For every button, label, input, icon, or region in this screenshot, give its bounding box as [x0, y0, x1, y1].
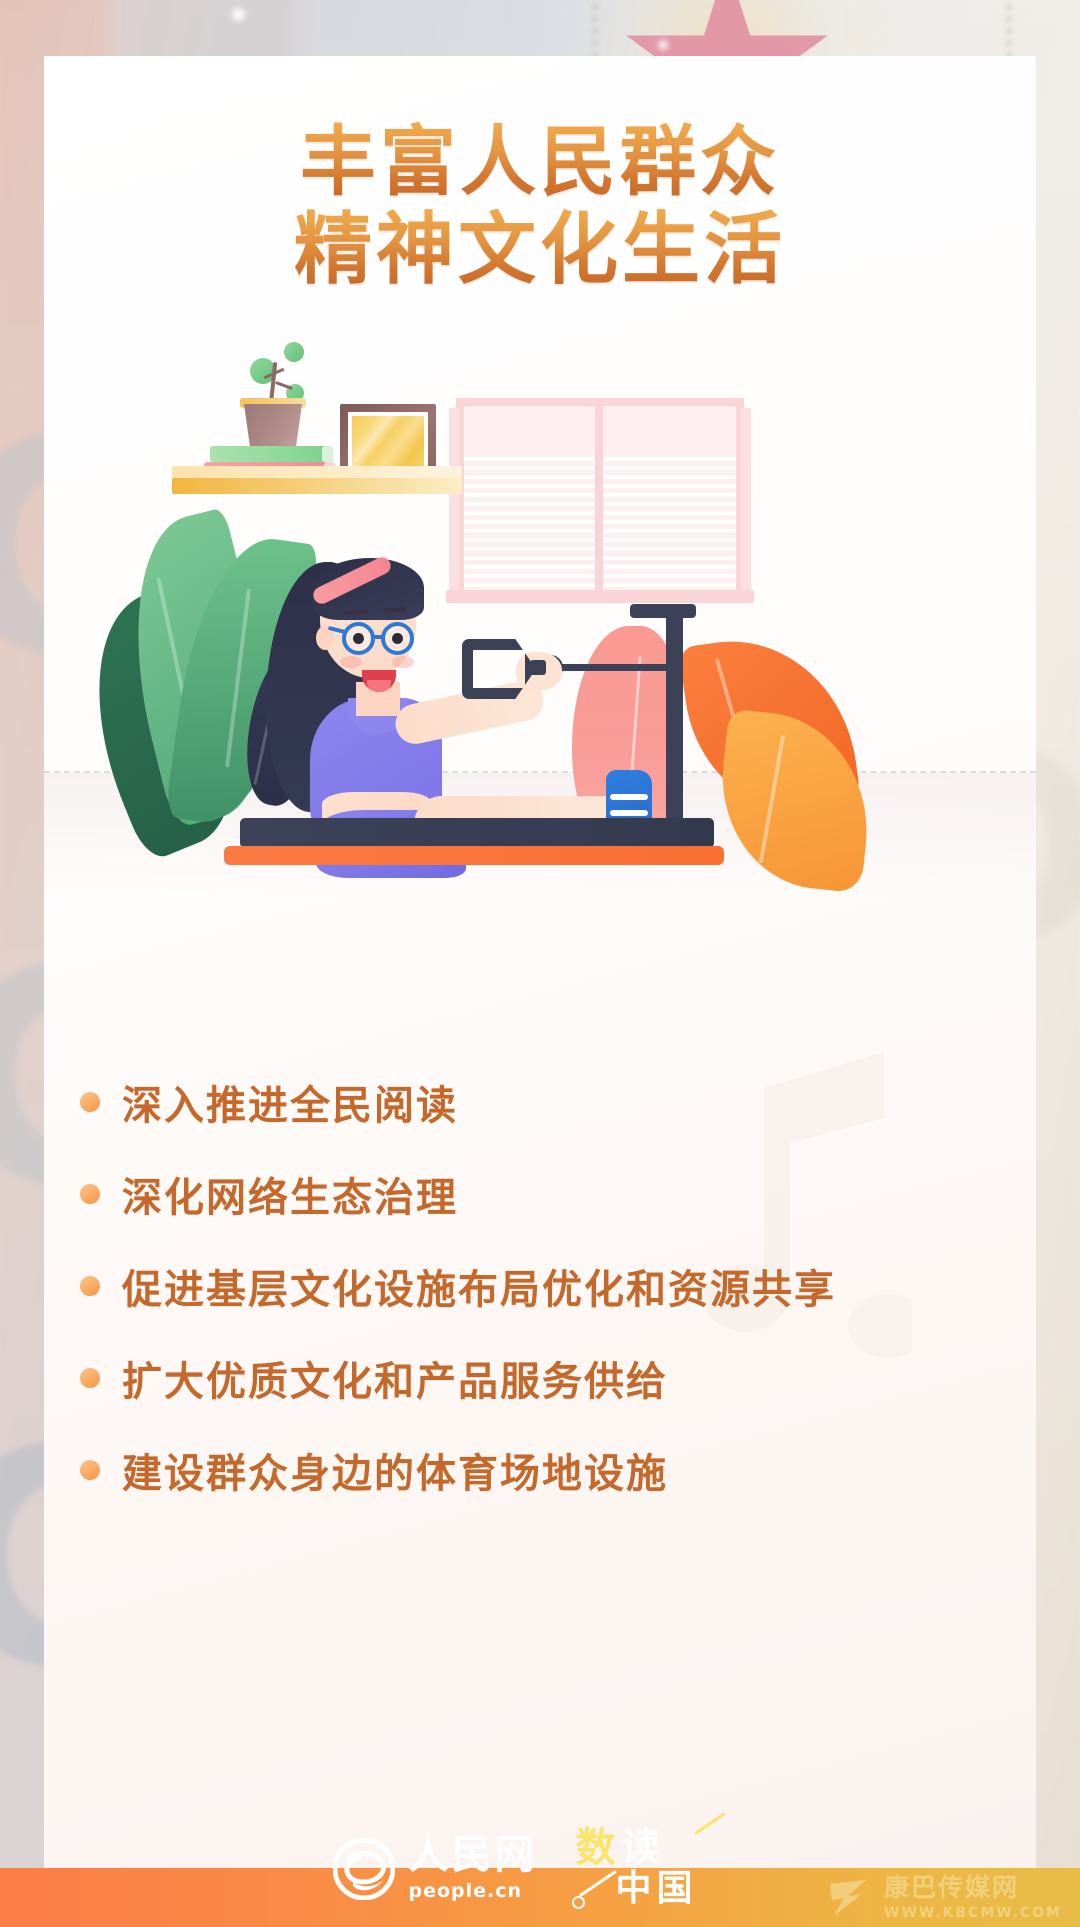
list-item[interactable]: 深入推进全民阅读: [44, 1056, 1036, 1148]
list-item-label: 建设群众身边的体育场地设施: [122, 1441, 668, 1499]
poster-title: 丰富人民群众 精神文化生活: [44, 122, 1036, 291]
sneaker-stripe: [610, 794, 648, 800]
eye-left: [353, 633, 364, 644]
bullet-dot-icon: [80, 1368, 100, 1388]
plant-stem: [275, 381, 293, 390]
rowing-machine-handle-neck: [530, 660, 546, 675]
list-item[interactable]: 扩大优质文化和产品服务供给: [44, 1332, 1036, 1424]
rowing-machine-cable: [556, 664, 674, 671]
bullet-dot-icon: [80, 1460, 100, 1480]
shelf-board: [172, 478, 462, 494]
list-item-label: 深入推进全民阅读: [122, 1073, 458, 1131]
rowing-machine-rail-dark: [240, 818, 714, 848]
rowing-machine-post: [666, 608, 683, 848]
title-line-1: 丰富人民群众: [44, 122, 1036, 203]
watermark-text: 康巴传媒网 WWW.KBCMW.COM: [884, 1875, 1062, 1921]
backdrop-dot: [658, 40, 668, 50]
list-item-label: 扩大优质文化和产品服务供给: [122, 1349, 668, 1407]
rowing-machine-post-top: [630, 604, 696, 618]
list-item[interactable]: 促进基层文化设施布局优化和资源共享: [44, 1240, 1036, 1332]
window-sill: [446, 590, 754, 603]
backdrop-dot: [232, 8, 245, 21]
cheek-blush-left: [340, 656, 362, 668]
window-leg-right: [741, 408, 751, 590]
eye-right: [392, 633, 403, 644]
book-icon: [210, 446, 330, 462]
window-leg-left: [449, 408, 459, 590]
picture-frame-image: [352, 416, 424, 468]
watermark-url: WWW.KBCMW.COM: [884, 1905, 1062, 1921]
rowing-machine-rail-base: [224, 846, 724, 865]
window-mullion: [595, 406, 603, 590]
bullet-dot-icon: [80, 1276, 100, 1296]
poster-card: 丰富人民群众 精神文化生活: [44, 56, 1036, 1868]
list-item-label: 促进基层文化设施布局优化和资源共享: [122, 1257, 836, 1315]
glasses-bridge: [373, 635, 384, 639]
cheek-blush-right: [392, 656, 414, 668]
list-item[interactable]: 建设群众身边的体育场地设施: [44, 1424, 1036, 1516]
sneaker-stripe: [610, 810, 648, 816]
bullet-dot-icon: [80, 1092, 100, 1112]
list-item[interactable]: 深化网络生态治理: [44, 1148, 1036, 1240]
watermark-name: 康巴传媒网: [884, 1875, 1019, 1900]
site-watermark: 康巴传媒网 WWW.KBCMW.COM: [826, 1868, 1062, 1927]
tongue: [367, 680, 391, 692]
book-band: [322, 446, 333, 462]
feature-list: 深入推进全民阅读 深化网络生态治理 促进基层文化设施布局优化和资源共享 扩大优质…: [44, 1056, 1036, 1516]
list-item-label: 深化网络生态治理: [122, 1165, 458, 1223]
illustration: [44, 326, 1036, 926]
watermark-logo-icon: [826, 1878, 874, 1918]
title-line-2: 精神文化生活: [44, 209, 1036, 292]
bullet-dot-icon: [80, 1184, 100, 1204]
plant-leaf-icon: [284, 342, 304, 362]
